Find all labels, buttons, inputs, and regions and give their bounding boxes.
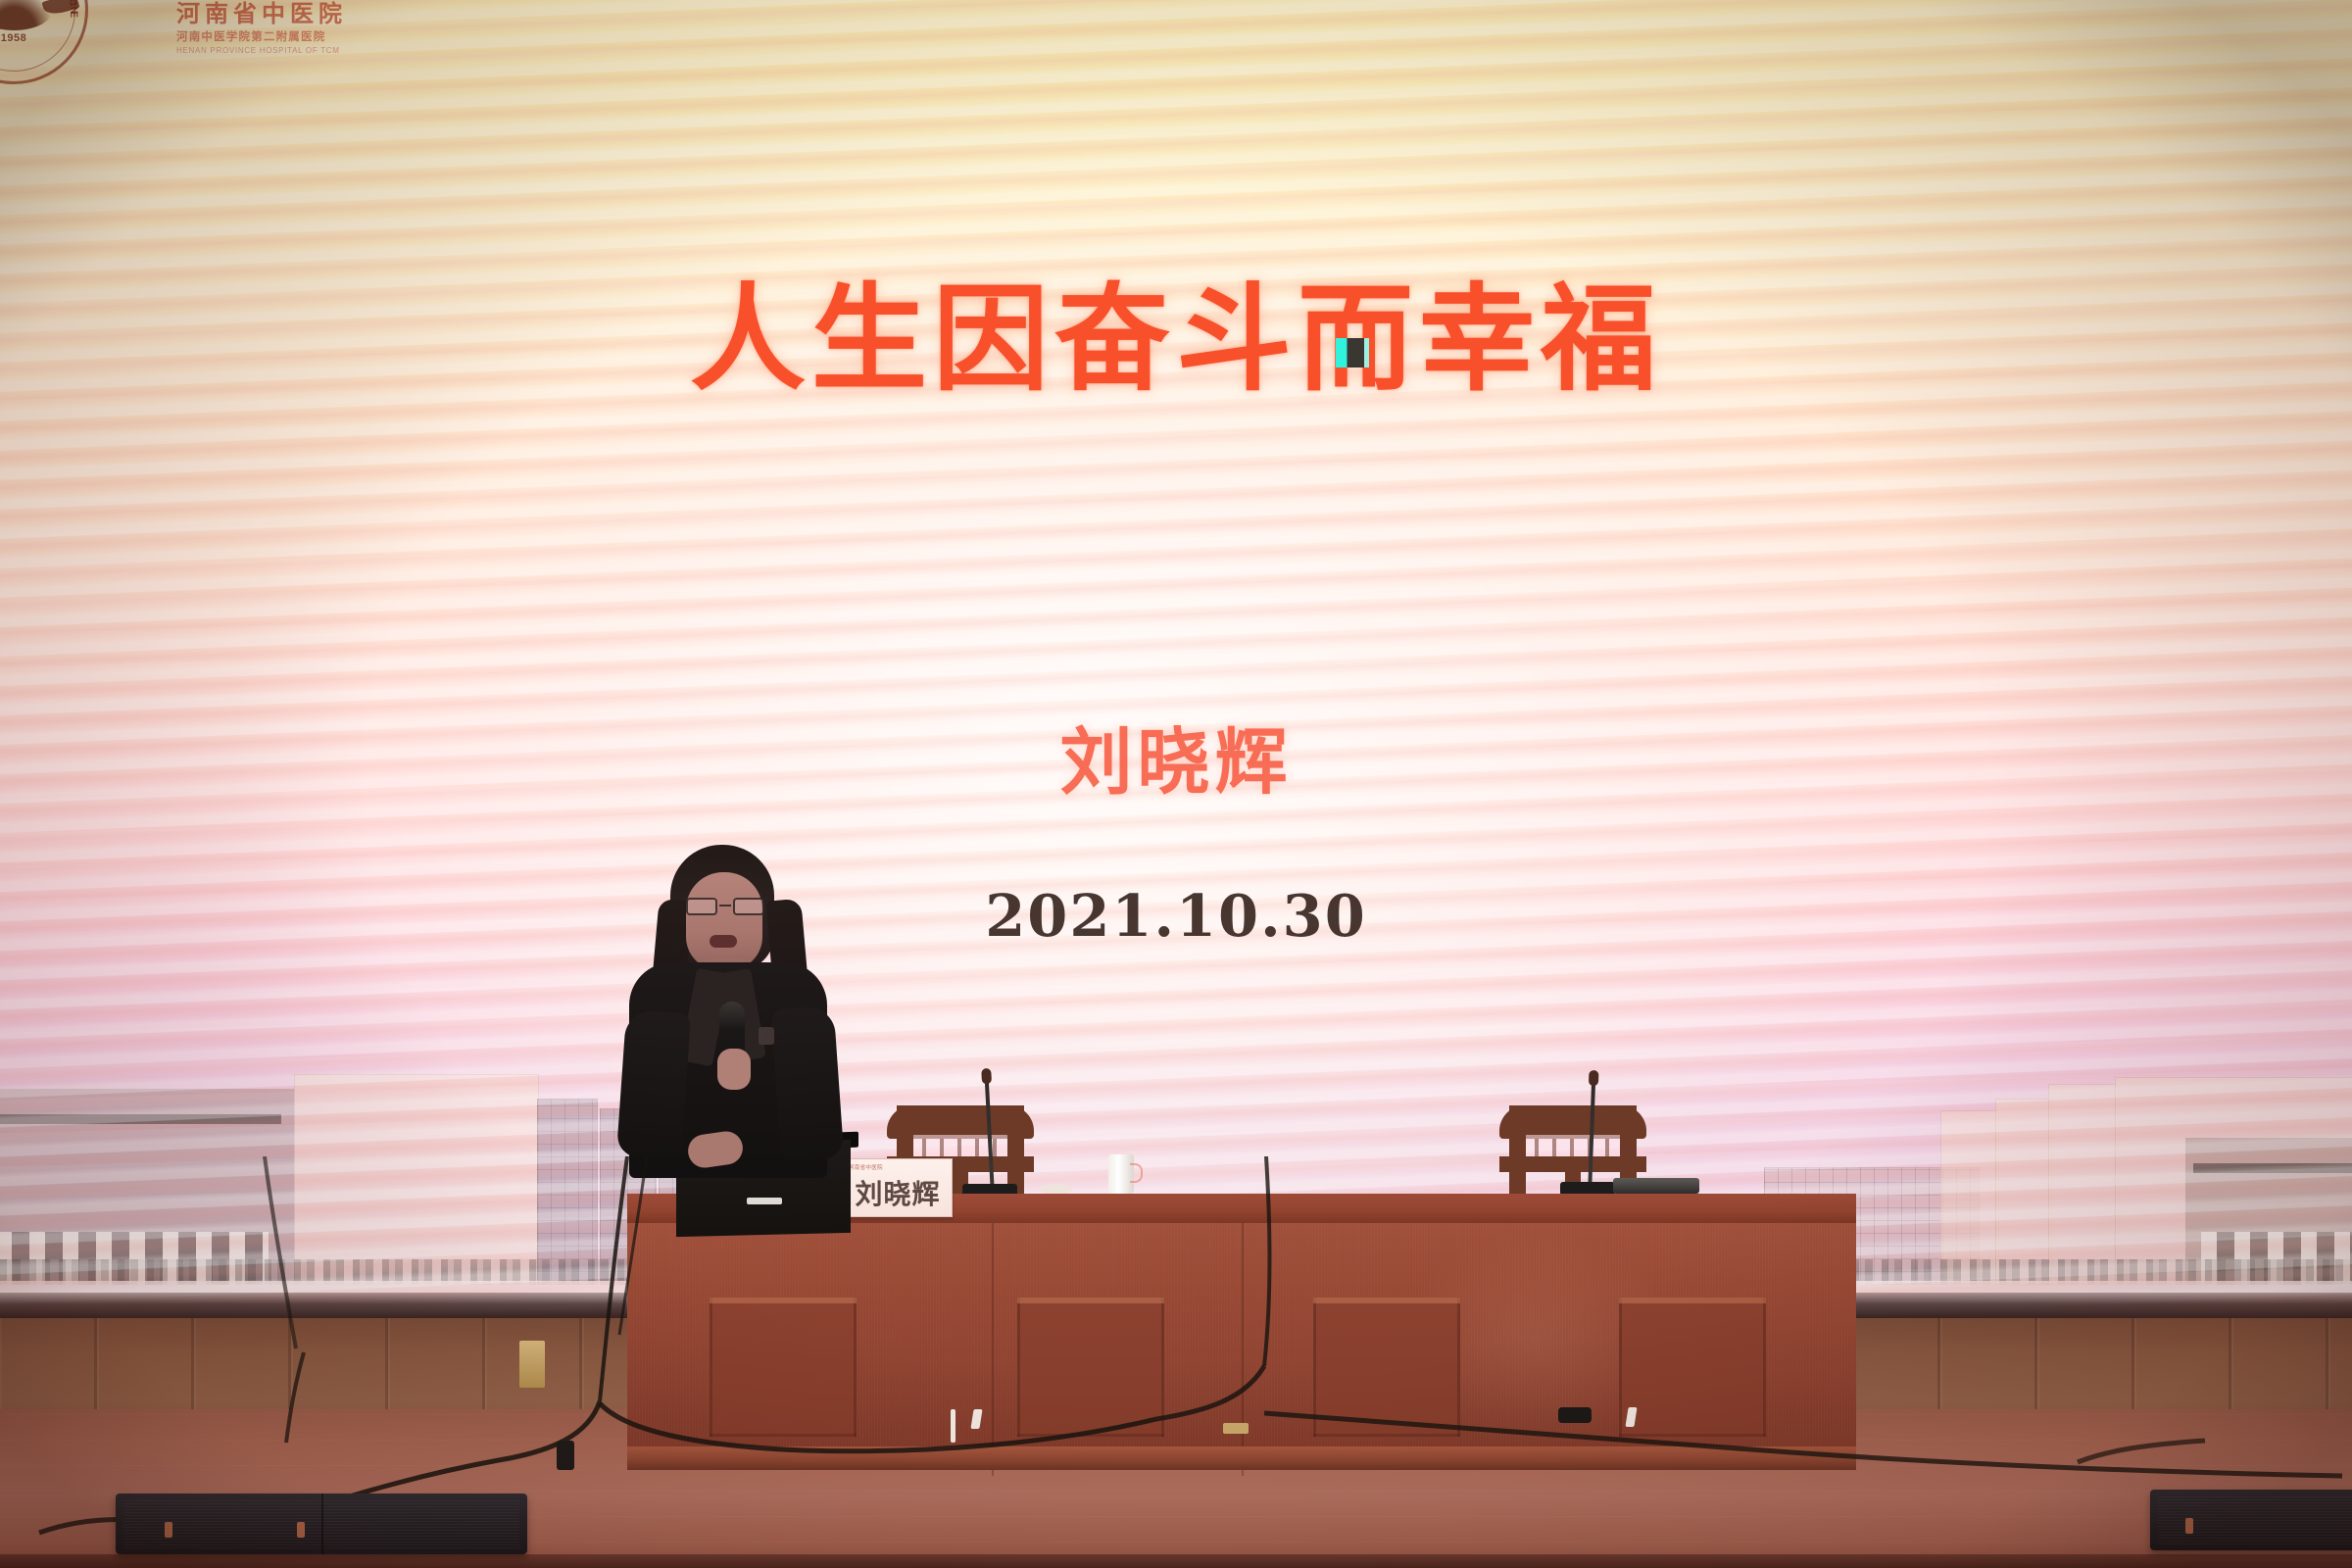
presenter-arm-right [771, 1005, 845, 1162]
hospital-name-en: HENAN PROVINCE HOSPITAL OF TCM [176, 46, 441, 55]
slide-date: 2021.10.30 [0, 882, 2352, 950]
presentation-photo-scene: 1958 HENAN UNIVERSITY OF CHINESE MEDICIN… [0, 0, 2352, 1568]
white-cable-tag [951, 1409, 955, 1443]
presenter-badge [759, 1027, 774, 1045]
power-plug [557, 1441, 574, 1470]
hospital-name-cn: 河南省中医院 [176, 2, 441, 26]
slide-logo-band: 1958 HENAN UNIVERSITY OF CHINESE MEDICIN… [0, 0, 451, 61]
slide-speaker-name: 刘晓辉 [0, 704, 2352, 808]
presenter [615, 845, 841, 1178]
stage-monitor-speaker-right [2150, 1490, 2352, 1550]
seal-ring-text: HENAN UNIVERSITY OF CHINESE MEDICINE [0, 0, 91, 87]
slide-title: 人生因奋斗而幸福 [0, 245, 2352, 413]
presenter-hand-holding-mic [717, 1049, 751, 1090]
floor-marker-box [1223, 1423, 1249, 1434]
cable-connector [1558, 1407, 1592, 1423]
hospital-subtitle-cn: 河南中医学院第二附属医院 [176, 28, 441, 44]
power-brick [519, 1341, 545, 1388]
stage-monitor-speaker-left [116, 1494, 527, 1554]
eyeglasses-icon [684, 898, 766, 915]
glitch-artifact [1336, 338, 1369, 367]
presenter-mouth [710, 935, 737, 948]
presenter-face [686, 872, 762, 970]
hospital-logo: 河南省中医院 河南中医学院第二附属医院 HENAN PROVINCE HOSPI… [176, 2, 441, 55]
presenter-arm-left [616, 1009, 691, 1160]
led-screen: 1958 HENAN UNIVERSITY OF CHINESE MEDICIN… [0, 0, 2352, 1318]
university-seal-icon: 1958 HENAN UNIVERSITY OF CHINESE MEDICIN… [0, 0, 88, 84]
